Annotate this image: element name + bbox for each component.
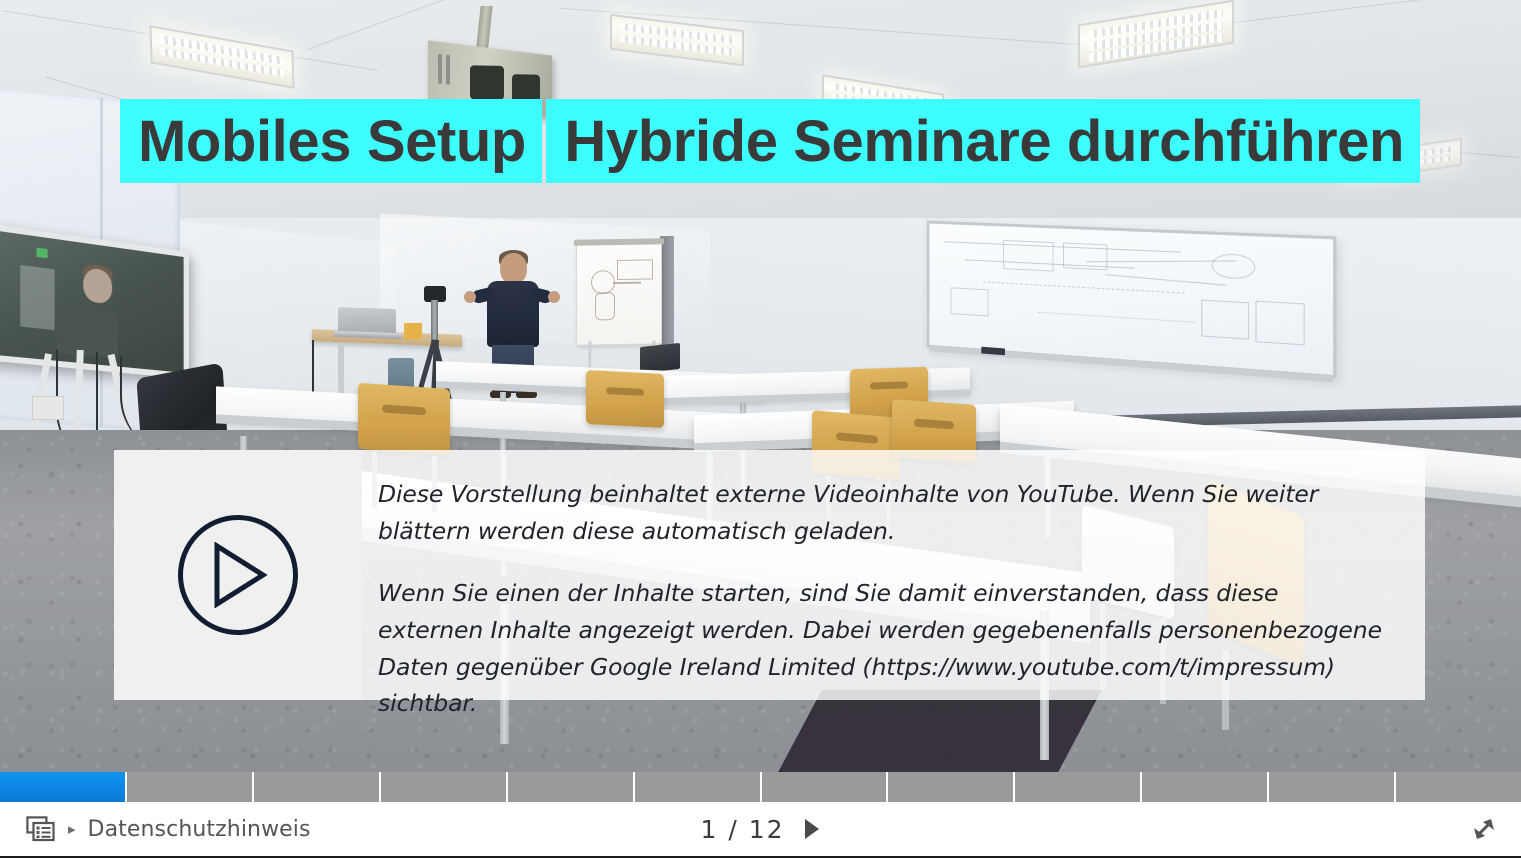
toolbar-left: ▸ Datenschutzhinweis bbox=[0, 816, 311, 842]
play-circle-icon[interactable] bbox=[178, 515, 298, 635]
chair bbox=[358, 383, 450, 455]
progress-segment-3[interactable] bbox=[254, 772, 381, 802]
tripod-column bbox=[431, 300, 438, 342]
page-indicator: 1 / 12 bbox=[700, 815, 784, 844]
progress-segment-2[interactable] bbox=[127, 772, 254, 802]
progress-segment-12[interactable] bbox=[1396, 772, 1521, 802]
presentation-viewer: Mobiles Setup Hybride Seminare durchführ… bbox=[0, 0, 1521, 858]
toolbar-right bbox=[1469, 814, 1521, 844]
whiteboard bbox=[927, 221, 1337, 379]
current-page: 1 bbox=[700, 815, 718, 844]
consent-paragraph-1: Diese Vorstellung beinhaltet externe Vid… bbox=[378, 476, 1385, 549]
title-line-1: Mobiles Setup bbox=[120, 99, 542, 183]
viewer-toolbar: ▸ Datenschutzhinweis 1 / 12 bbox=[0, 802, 1521, 858]
slide-stage: Mobiles Setup Hybride Seminare durchführ… bbox=[0, 0, 1521, 772]
cup bbox=[404, 323, 422, 339]
breadcrumb[interactable]: Datenschutzhinweis bbox=[88, 817, 311, 842]
slides-overview-icon[interactable] bbox=[26, 816, 56, 842]
flipchart bbox=[576, 242, 662, 346]
progress-segment-8[interactable] bbox=[888, 772, 1015, 802]
chair-handle-slot bbox=[870, 381, 908, 389]
play-pane bbox=[114, 450, 362, 700]
chair bbox=[586, 370, 664, 428]
consent-paragraph-2: Wenn Sie einen der Inhalte starten, sind… bbox=[378, 575, 1385, 722]
consent-text: Diese Vorstellung beinhaltet externe Vid… bbox=[362, 450, 1425, 700]
slide-progress-bar[interactable] bbox=[0, 772, 1521, 802]
door-frame bbox=[660, 236, 674, 356]
total-pages: 12 bbox=[749, 815, 785, 844]
progress-segment-5[interactable] bbox=[508, 772, 635, 802]
progress-segment-9[interactable] bbox=[1015, 772, 1142, 802]
tablet bbox=[640, 343, 680, 373]
progress-segment-6[interactable] bbox=[635, 772, 762, 802]
page-separator: / bbox=[728, 815, 738, 844]
progress-segment-10[interactable] bbox=[1142, 772, 1269, 802]
progress-segment-11[interactable] bbox=[1269, 772, 1396, 802]
title-line-2: Hybride Seminare durchführen bbox=[546, 99, 1420, 183]
progress-segment-1[interactable] bbox=[0, 772, 127, 802]
slide-title: Mobiles Setup Hybride Seminare durchführ… bbox=[120, 86, 1420, 183]
chevron-right-icon: ▸ bbox=[68, 822, 76, 837]
progress-segment-4[interactable] bbox=[381, 772, 508, 802]
youtube-consent-panel: Diese Vorstellung beinhaltet externe Vid… bbox=[114, 450, 1425, 700]
next-slide-button[interactable] bbox=[803, 818, 821, 840]
progress-segment-7[interactable] bbox=[762, 772, 889, 802]
fullscreen-expand-icon[interactable] bbox=[1469, 814, 1499, 844]
wall-socket bbox=[32, 396, 64, 420]
